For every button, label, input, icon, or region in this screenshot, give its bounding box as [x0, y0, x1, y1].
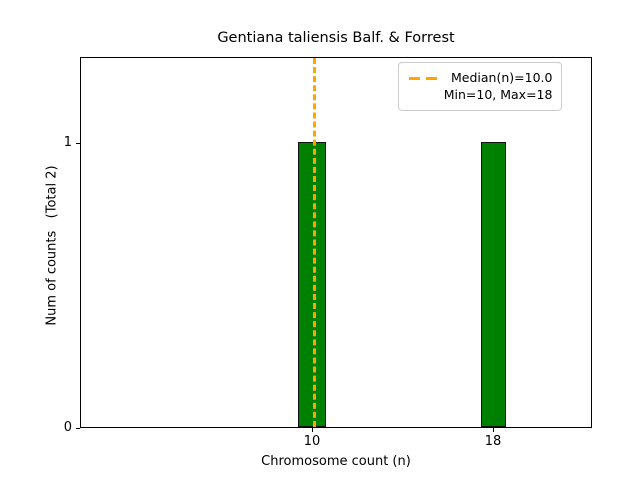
- legend-entry-median: Median(n)=10.0: [408, 69, 552, 86]
- legend-label-range: Min=10, Max=18: [444, 86, 553, 103]
- plot-area: [80, 57, 592, 428]
- y-tick-mark-1: [76, 143, 80, 144]
- legend-label-median: Median(n)=10.0: [451, 69, 552, 86]
- median-line: [313, 58, 316, 427]
- x-tick-mark-18: [493, 428, 494, 432]
- x-tick-mark-10: [312, 428, 313, 432]
- bar-10: [298, 142, 326, 427]
- x-tick-label-18: 18: [463, 434, 523, 449]
- legend: Median(n)=10.0 Min=10, Max=18: [398, 62, 562, 111]
- y-axis-label: Num of counts (Total 2): [45, 60, 60, 432]
- x-tick-label-10: 10: [282, 434, 342, 449]
- chart-title: Gentiana taliensis Balf. & Forrest: [80, 30, 592, 46]
- x-axis-label: Chromosome count (n): [80, 454, 592, 469]
- legend-entry-range: Min=10, Max=18: [408, 86, 552, 103]
- bar-18: [481, 142, 506, 427]
- dashed-line-icon: [408, 71, 442, 85]
- chart-figure: Gentiana taliensis Balf. & Forrest 0 1 1…: [0, 0, 640, 480]
- y-tick-mark-0: [76, 428, 80, 429]
